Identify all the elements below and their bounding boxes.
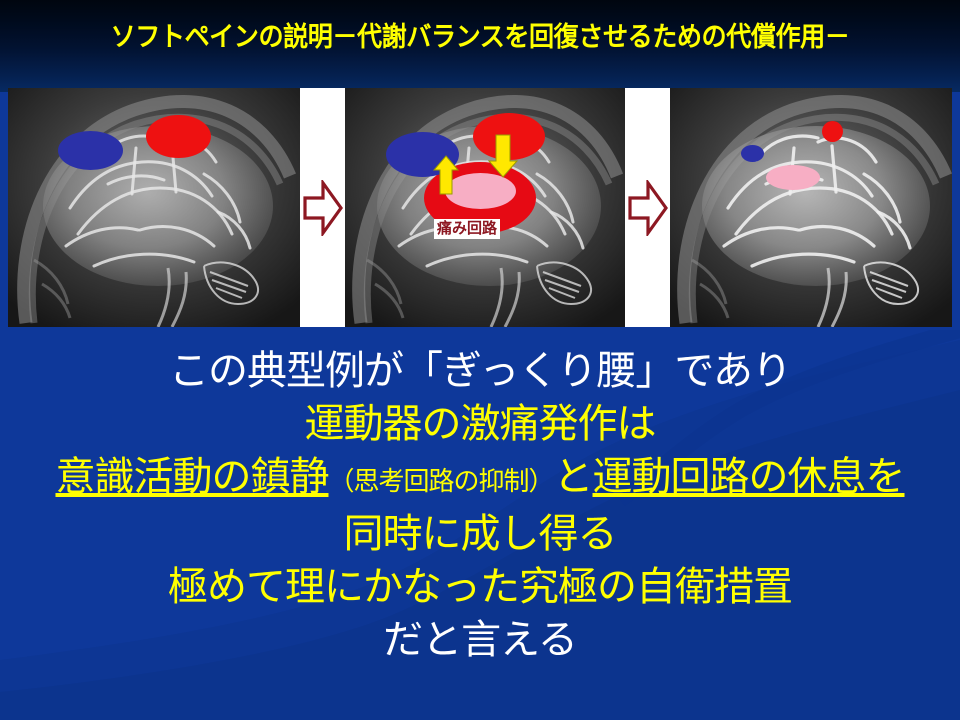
body-line-6: だと言える (0, 614, 960, 667)
pain-circuit-label: 痛み回路 (434, 219, 500, 239)
body-line-1: この典型例が「ぎっくり腰」であり (0, 345, 960, 398)
body-line-2: 運動器の激痛発作は (0, 398, 960, 451)
red-ellipse-motor-circuit (146, 115, 211, 158)
brain-xray-image-3 (670, 88, 952, 327)
body-line-5: 極めて理にかなった究極の自衛措置 (0, 561, 960, 614)
body-line-3-part-3: と (554, 455, 593, 499)
transition-gap-2 (625, 88, 670, 327)
blue-dot-thinking-circuit (741, 145, 764, 162)
page-title: ソフトペインの説明－代謝バランスを回復させるための代償作用－ (34, 20, 927, 54)
right-arrow-icon-1 (303, 180, 343, 236)
body-line-3-part-1: 意識活動の鎮静 (55, 455, 328, 499)
body-line-3: 意識活動の鎮静（思考回路の抑制）と運動回路の休息を (0, 451, 960, 508)
slide-root: ソフトペインの説明－代謝バランスを回復させるための代償作用－ (0, 0, 960, 720)
panel-quieted-state (670, 88, 952, 327)
panel-pain-circuit-activated: 痛み回路 (345, 88, 625, 327)
red-dot-motor-circuit (822, 121, 843, 142)
body-text-block: この典型例が「ぎっくり腰」であり 運動器の激痛発作は 意識活動の鎮静（思考回路の… (0, 345, 960, 667)
yellow-down-arrow-icon (488, 134, 518, 178)
panel-initial-state (8, 88, 300, 327)
pink-ellipse-pain-core (766, 165, 820, 190)
body-line-3-part-2: （思考回路の抑制） (328, 466, 553, 496)
right-arrow-icon-2 (628, 180, 668, 236)
transition-gap-1 (300, 88, 345, 327)
body-line-3-part-4: 運動回路の休息を (593, 455, 905, 499)
body-line-4: 同時に成し得る (0, 508, 960, 561)
blue-ellipse-thinking-circuit (58, 131, 123, 170)
brain-diagram-strip: 痛み回路 (8, 88, 952, 327)
yellow-up-arrow-icon (433, 155, 459, 195)
